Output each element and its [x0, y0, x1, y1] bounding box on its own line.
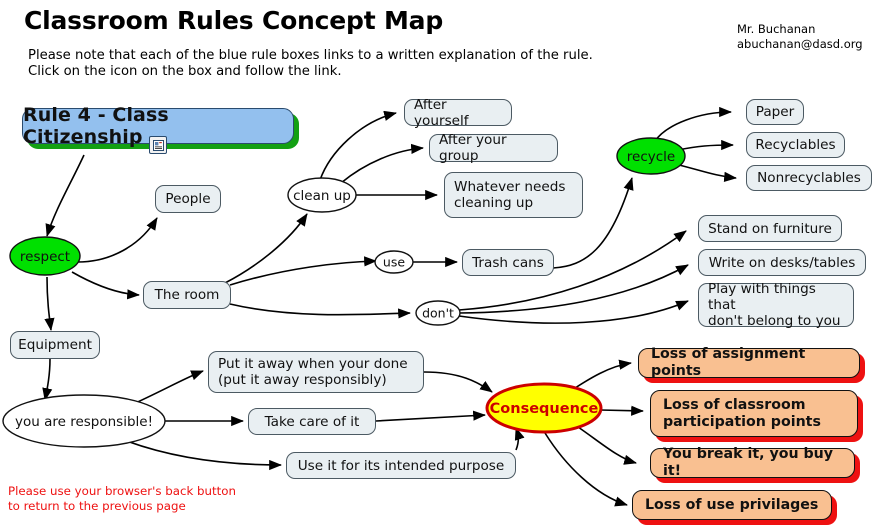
node-clean-up-label: clean up	[293, 188, 351, 204]
node-after-yourself-label: After yourself	[414, 97, 502, 129]
node-after-your-group-label: After your group	[439, 132, 548, 164]
node-recycle-label: recycle	[627, 149, 675, 165]
node-you-are-responsible[interactable]: you are responsible!	[3, 395, 165, 447]
node-the-room[interactable]: The room	[143, 281, 231, 309]
node-put-it-away-label: Put it away when your done (put it away …	[218, 356, 408, 388]
concept-map-page: Classroom Rules Concept Map Please note …	[0, 0, 874, 532]
node-people-label: People	[165, 191, 210, 207]
node-consequence[interactable]: Consequence	[487, 384, 601, 432]
node-recycle[interactable]: recycle	[617, 138, 685, 174]
consequence-box-1-label: Loss of classroom participation points	[663, 397, 821, 431]
node-write-on-desks-tables[interactable]: Write on desks/tables	[698, 249, 866, 276]
node-stand-on-furniture-label: Stand on furniture	[708, 221, 832, 237]
node-whatever-needs-cleaning-up[interactable]: Whatever needs cleaning up	[444, 172, 583, 218]
consequence-box-2[interactable]: You break it, you buy it!	[650, 448, 855, 478]
node-clean-up[interactable]: clean up	[288, 178, 356, 212]
node-trash-cans-label: Trash cans	[472, 255, 544, 271]
node-recyclables[interactable]: Recyclables	[746, 132, 845, 158]
consequence-box-1[interactable]: Loss of classroom participation points	[650, 390, 858, 437]
node-after-yourself[interactable]: After yourself	[404, 99, 512, 126]
consequence-box-2-label: You break it, you buy it!	[663, 446, 842, 480]
node-nonrecyclables-label: Nonrecyclables	[757, 170, 861, 186]
node-respect-label: respect	[20, 249, 70, 265]
node-dont[interactable]: don't	[416, 301, 460, 325]
consequence-box-3-label: Loss of use privilages	[645, 497, 818, 514]
node-the-room-label: The room	[155, 287, 220, 303]
node-trash-cans[interactable]: Trash cans	[462, 249, 554, 276]
node-dont-label: don't	[422, 306, 454, 321]
node-people[interactable]: People	[155, 185, 221, 213]
node-nonrecyclables[interactable]: Nonrecyclables	[746, 165, 872, 191]
consequence-box-3[interactable]: Loss of use privilages	[632, 490, 832, 520]
consequence-box-0[interactable]: Loss of assignment points	[638, 348, 860, 378]
node-use-it-for-intended-purpose[interactable]: Use it for its intended purpose	[286, 452, 516, 479]
node-equipment[interactable]: Equipment	[10, 331, 100, 359]
document-link-icon[interactable]	[149, 136, 167, 154]
node-consequence-label: Consequence	[490, 401, 599, 417]
node-take-care-of-it-label: Take care of it	[265, 414, 360, 430]
node-write-on-desks-tables-label: Write on desks/tables	[709, 255, 856, 271]
node-whatever-needs-cleaning-up-label: Whatever needs cleaning up	[454, 179, 565, 211]
node-paper-label: Paper	[756, 104, 795, 120]
node-you-are-responsible-label: you are responsible!	[15, 414, 153, 430]
node-after-your-group[interactable]: After your group	[429, 134, 558, 162]
node-take-care-of-it[interactable]: Take care of it	[248, 408, 376, 435]
node-use[interactable]: use	[375, 251, 413, 273]
node-put-it-away[interactable]: Put it away when your done (put it away …	[208, 351, 424, 393]
node-equipment-label: Equipment	[18, 337, 92, 353]
node-use-it-for-intended-purpose-label: Use it for its intended purpose	[298, 458, 505, 474]
node-stand-on-furniture[interactable]: Stand on furniture	[698, 215, 842, 242]
node-paper[interactable]: Paper	[746, 99, 804, 125]
node-play-with-things[interactable]: Play with things that don't belong to yo…	[698, 283, 854, 327]
node-respect[interactable]: respect	[10, 237, 80, 275]
node-play-with-things-label: Play with things that don't belong to yo…	[708, 281, 844, 329]
node-use-label: use	[383, 255, 405, 270]
node-recyclables-label: Recyclables	[755, 137, 835, 153]
consequence-box-0-label: Loss of assignment points	[651, 346, 847, 380]
